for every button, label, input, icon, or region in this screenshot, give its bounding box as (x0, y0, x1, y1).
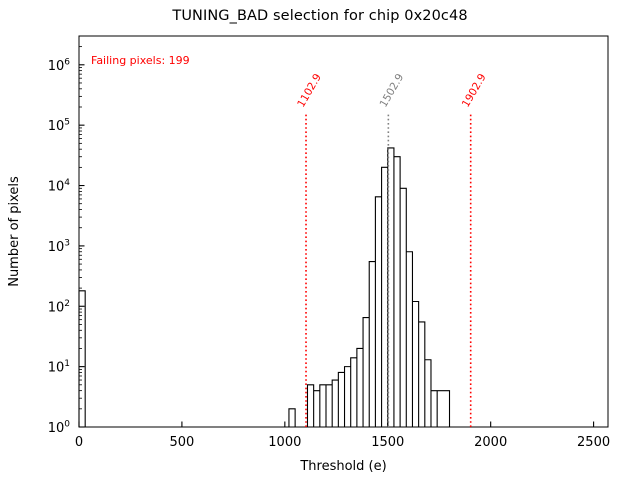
y-tick-label: 103 (48, 238, 70, 255)
y-tick-exponent: 1 (64, 359, 70, 369)
plot-area: 1001011021031041051060500100015002000250… (0, 0, 640, 480)
x-tick-label: 1500 (371, 435, 404, 450)
histogram-chart: 1001011021031041051060500100015002000250… (0, 0, 640, 480)
y-tick-exponent: 2 (64, 299, 70, 309)
y-tick-label: 102 (48, 299, 70, 316)
figure: TUNING_BAD selection for chip 0x20c48 10… (0, 0, 640, 480)
x-tick-label: 500 (170, 435, 195, 450)
plot-frame (79, 36, 608, 427)
y-tick-exponent: 5 (64, 118, 70, 128)
x-axis-label: Threshold (e) (299, 459, 386, 474)
x-tick-label: 0 (75, 435, 83, 450)
y-tick-exponent: 6 (64, 57, 70, 67)
x-tick-label: 1000 (268, 435, 301, 450)
y-tick-exponent: 0 (64, 420, 70, 430)
y-tick-label: 106 (48, 57, 71, 74)
y-tick-label: 105 (48, 118, 70, 135)
y-tick-exponent: 3 (64, 238, 70, 248)
x-tick-label: 2000 (474, 435, 507, 450)
y-axis-label: Number of pixels (7, 176, 22, 287)
y-tick-exponent: 4 (64, 178, 70, 188)
y-tick-label: 104 (48, 178, 71, 195)
y-tick-label: 100 (48, 420, 71, 437)
failing-pixels-annotation: Failing pixels: 199 (91, 54, 190, 67)
y-tick-label: 101 (48, 359, 70, 376)
x-tick-label: 2500 (577, 435, 610, 450)
